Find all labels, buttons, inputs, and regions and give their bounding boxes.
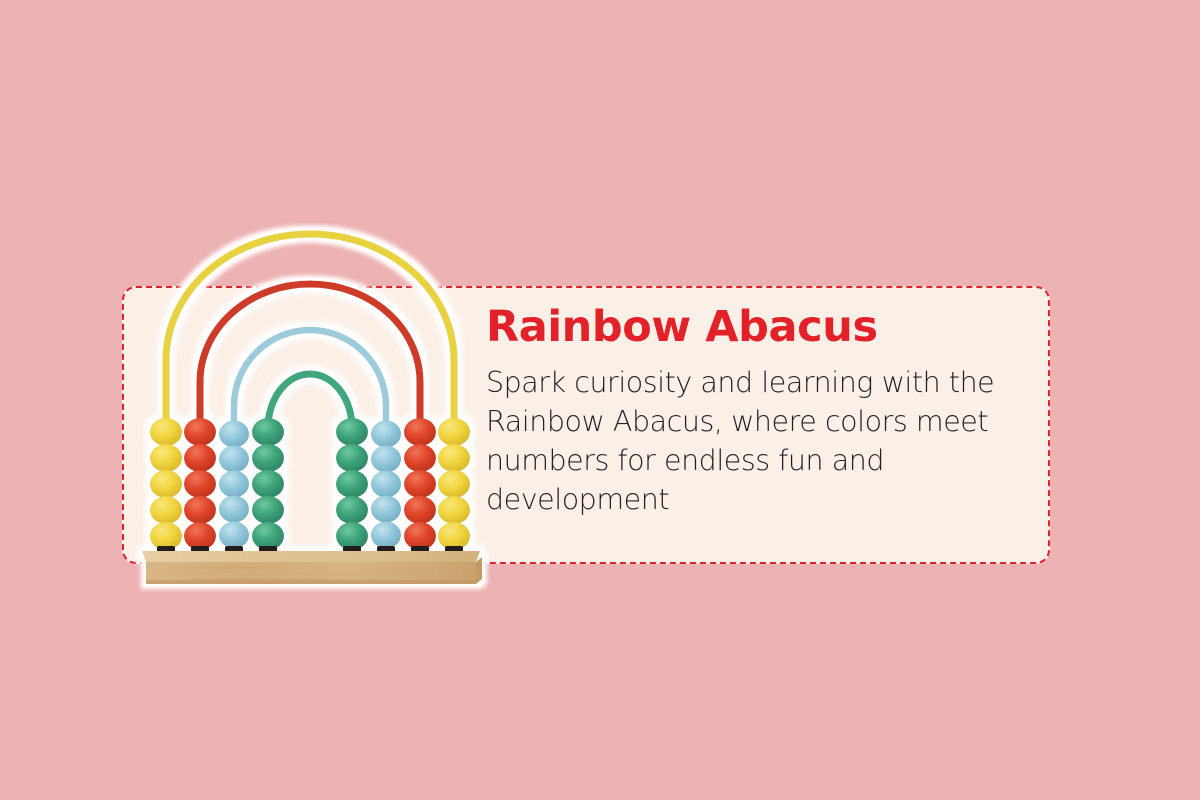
product-title: Rainbow Abacus bbox=[486, 306, 1006, 349]
product-description: Spark curiosity and learning with the Ra… bbox=[486, 363, 1006, 519]
product-text-block: Rainbow Abacus Spark curiosity and learn… bbox=[486, 306, 1006, 519]
